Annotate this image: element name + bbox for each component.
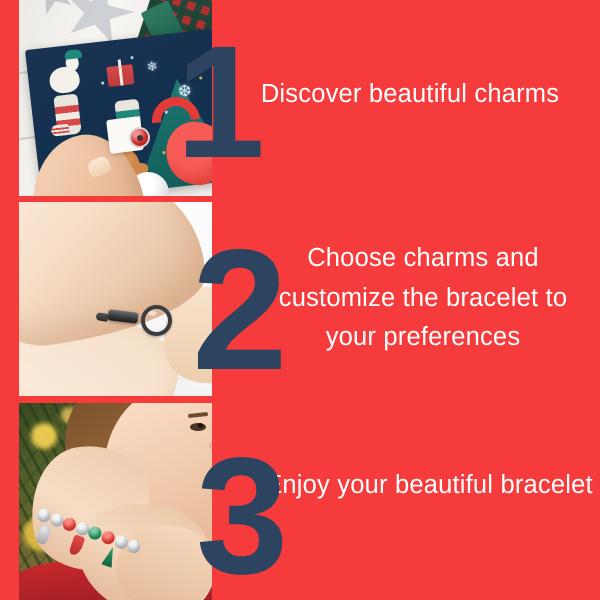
bokeh-light <box>31 423 57 449</box>
bracelet-clasp-photo-inner <box>19 202 212 396</box>
jump-ring <box>141 305 172 336</box>
decor-dot <box>130 56 133 59</box>
gift-illustration-icon <box>106 64 134 87</box>
eyebrow <box>188 412 208 418</box>
step-number-2: 2 <box>192 224 288 396</box>
girl-wearing-bracelet-photo-inner <box>19 403 212 600</box>
how-it-works-poster: ❄ ❆ ❇ ❄ ❅ 1 Discover beautiful charm <box>0 0 600 600</box>
snowflake-icon: ❄ <box>146 60 158 74</box>
bracelet-bead <box>126 538 143 555</box>
bracelet-clasp-photo <box>19 202 212 396</box>
girl-wearing-bracelet-photo <box>19 403 212 600</box>
step-text-2: Choose charms and customize the bracelet… <box>252 239 594 358</box>
decor-dot <box>100 81 103 84</box>
thumbnail <box>85 154 112 179</box>
step-number-1: 1 <box>176 22 263 182</box>
step-text-1: Discover beautiful charms <box>232 78 588 111</box>
step-text-3: Enjoy your beautiful bracelet <box>264 466 594 506</box>
stocking-illustration-icon <box>53 94 81 136</box>
llama-illustration-icon <box>48 66 81 95</box>
step-number-3: 3 <box>196 434 288 600</box>
